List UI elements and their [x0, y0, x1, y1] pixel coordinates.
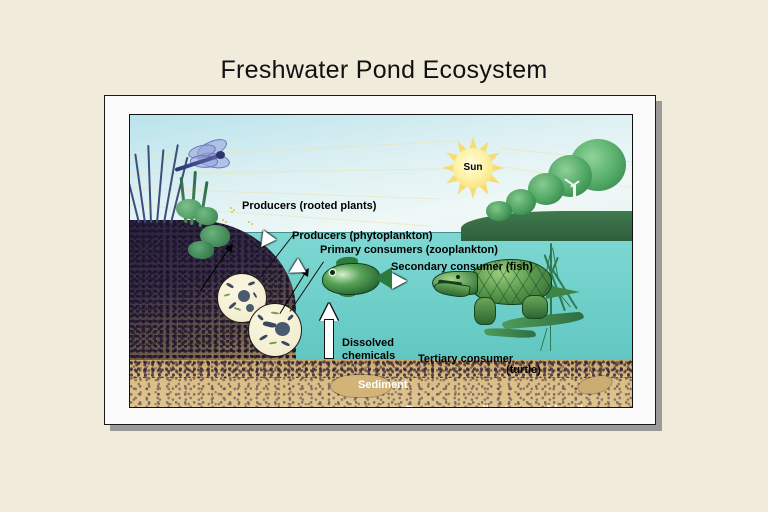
dissolved-chemicals-arrow — [320, 303, 338, 359]
turtle-eye — [456, 275, 460, 279]
sun-label: Sun — [445, 162, 501, 173]
turtle-leg — [474, 297, 496, 325]
rooted-plant-cluster — [248, 221, 254, 227]
sun: Sun — [445, 140, 501, 196]
submerged-bush — [188, 241, 214, 259]
dragonfly-head — [216, 151, 225, 159]
page-title: Freshwater Pond Ecosystem — [0, 56, 768, 85]
tree-trunk — [573, 185, 576, 211]
figure-frame: Sun — [104, 95, 656, 425]
ecosystem-diagram: Sun — [129, 114, 633, 408]
label-sediment: Sediment — [358, 379, 408, 392]
consumption-arrow — [392, 273, 407, 289]
label-primary-consumers: Primary consumers (zooplankton) — [320, 244, 498, 257]
label-producers-phytoplankton: Producers (phytoplankton) — [292, 230, 433, 243]
tree-canopy — [486, 201, 512, 221]
dragonfly — [172, 137, 242, 177]
label-dissolved-line1: Dissolved — [342, 337, 394, 350]
fish-body — [322, 263, 380, 295]
rooted-plant-cluster — [222, 219, 228, 225]
rooted-plant-cluster — [230, 207, 236, 213]
turtle-leg — [522, 295, 548, 319]
fish — [316, 255, 394, 301]
label-tertiary-consumer-line1: Tertiary consumer — [418, 353, 513, 366]
label-producers-rooted: Producers (rooted plants) — [242, 200, 376, 213]
zooplankton-magnifier — [248, 303, 302, 357]
shore-bush — [194, 207, 218, 225]
fish-eye — [330, 270, 335, 275]
label-decomposers: Decomposers (bacteria and fungi) — [406, 404, 584, 408]
label-tertiary-consumer-line2: (turtle) — [506, 364, 541, 377]
label-secondary-consumer: Secondary consumer (fish) — [391, 261, 533, 274]
fish-tail — [374, 267, 392, 289]
label-dissolved-line2: chemicals — [342, 350, 395, 363]
